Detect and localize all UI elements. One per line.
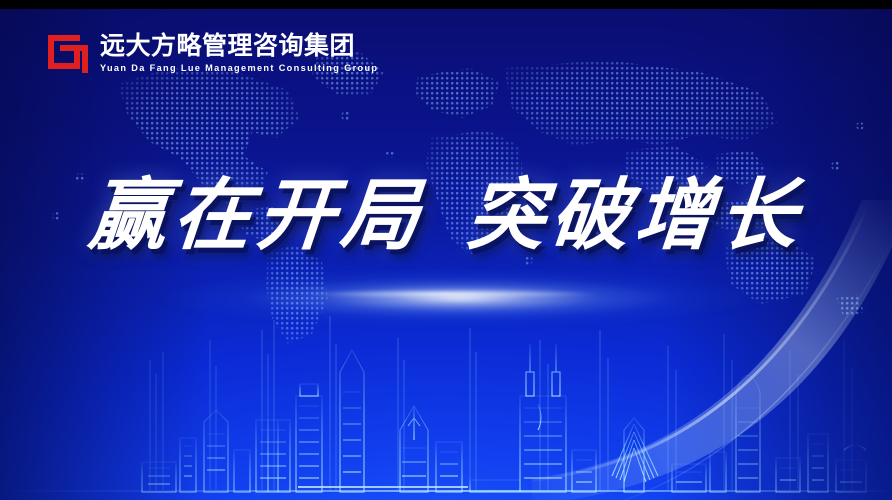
brand-name-cn: 远大方略管理咨询集团 xyxy=(100,32,378,59)
brand-logo[interactable]: 远大方略管理咨询集团 Yuan Da Fang Lue Management C… xyxy=(46,31,378,75)
waterfront-glow-line xyxy=(0,490,892,492)
brand-name-en: Yuan Da Fang Lue Management Consulting G… xyxy=(100,61,378,75)
light-streak-core xyxy=(300,290,600,298)
brand-text: 远大方略管理咨询集团 Yuan Da Fang Lue Management C… xyxy=(100,32,378,75)
headline-part-2: 突破增长 xyxy=(463,168,807,264)
yuandafanglue-logo-mark xyxy=(46,31,90,75)
poster-canvas: 远大方略管理咨询集团 Yuan Da Fang Lue Management C… xyxy=(0,0,892,500)
letterbox-top-bar xyxy=(0,0,892,9)
headline-part-1: 赢在开局 xyxy=(85,168,429,264)
city-skyline-wireframe xyxy=(0,300,892,500)
waterfront-highlight xyxy=(298,486,468,488)
page-title: 赢在开局 突破增长 xyxy=(0,168,892,264)
